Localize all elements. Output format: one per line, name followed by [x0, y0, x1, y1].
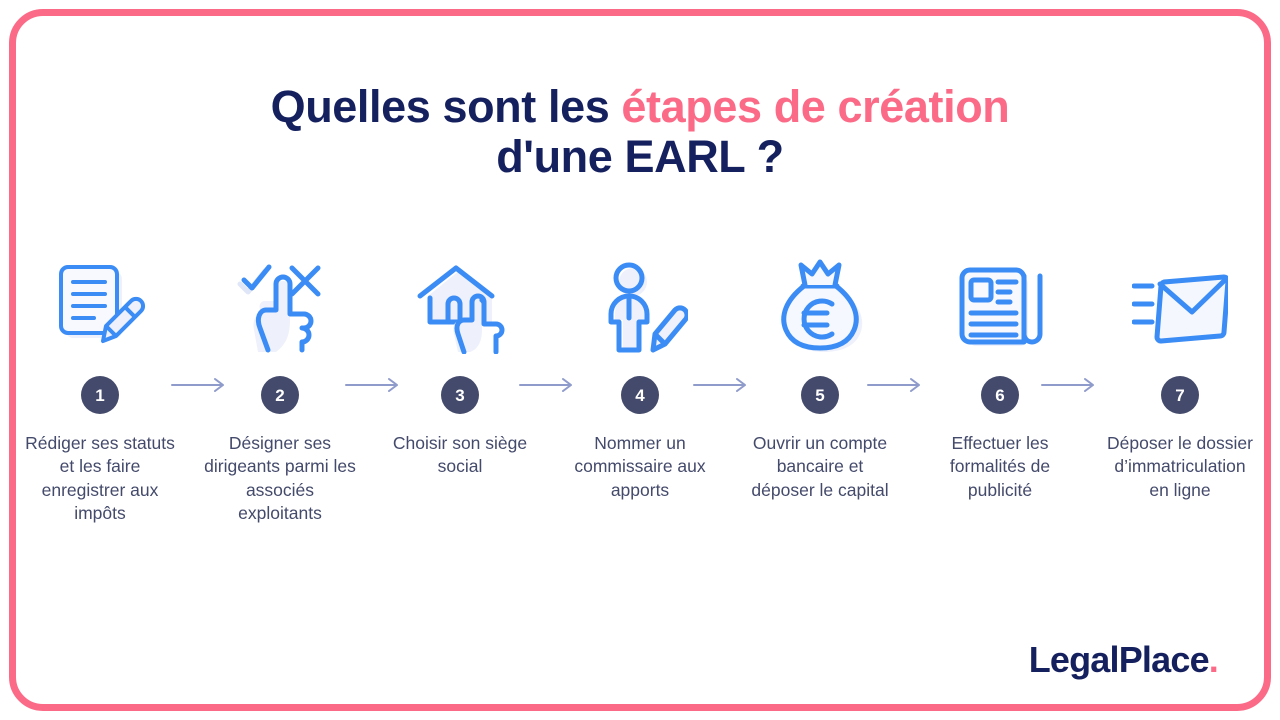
step-1: 1 Rédiger ses statuts et les faire enreg… [24, 250, 176, 525]
title-text-plain: Quelles sont les [271, 81, 622, 132]
step-number-badge: 7 [1161, 376, 1199, 414]
page-title: Quelles sont les étapes de création d'un… [0, 82, 1280, 183]
step-caption: Nommer un commissaire aux apports [564, 432, 716, 502]
step-4: 4 Nommer un commissaire aux apports [564, 250, 716, 502]
step-number-badge: 4 [621, 376, 659, 414]
step-number-badge: 5 [801, 376, 839, 414]
step-7: 7 Déposer le dossier d’immatriculation e… [1104, 250, 1256, 502]
step-number-badge: 6 [981, 376, 1019, 414]
steps-row: 1 Rédiger ses statuts et les faire enreg… [24, 250, 1256, 525]
step-5: 5 Ouvrir un compte bancaire et déposer l… [744, 250, 896, 502]
money-bag-euro-icon [760, 250, 880, 362]
title-line-1: Quelles sont les étapes de création [0, 82, 1280, 132]
title-text-accent: étapes de création [621, 81, 1009, 132]
legalplace-logo: LegalPlace. [1029, 642, 1218, 678]
infographic-content: Quelles sont les étapes de création d'un… [0, 0, 1280, 720]
infographic-canvas: Quelles sont les étapes de création d'un… [0, 0, 1280, 720]
step-caption: Choisir son siège social [384, 432, 536, 479]
step-number-badge: 2 [261, 376, 299, 414]
step-caption: Déposer le dossier d’immatriculation en … [1104, 432, 1256, 502]
step-2: 2 Désigner ses dirigeants parmi les asso… [204, 250, 356, 525]
title-line-2: d'une EARL ? [0, 132, 1280, 182]
step-6: 6 Effectuer les formalités de publicité [924, 250, 1076, 502]
step-caption: Ouvrir un compte bancaire et déposer le … [744, 432, 896, 502]
step-caption: Rédiger ses statuts et les faire enregis… [24, 432, 176, 525]
house-pointing-hand-icon [400, 250, 520, 362]
pointing-hand-check-cross-icon [220, 250, 340, 362]
envelope-send-icon [1120, 250, 1240, 362]
logo-text: LegalPlace [1029, 639, 1209, 680]
logo-dot: . [1209, 639, 1218, 680]
step-caption: Effectuer les formalités de publicité [924, 432, 1076, 502]
step-caption: Désigner ses dirigeants parmi les associ… [204, 432, 356, 525]
step-3: 3 Choisir son siège social [384, 250, 536, 479]
document-pencil-icon [40, 250, 160, 362]
step-number-badge: 1 [81, 376, 119, 414]
newspaper-icon [940, 250, 1060, 362]
step-number-badge: 3 [441, 376, 479, 414]
person-pencil-icon [580, 250, 700, 362]
